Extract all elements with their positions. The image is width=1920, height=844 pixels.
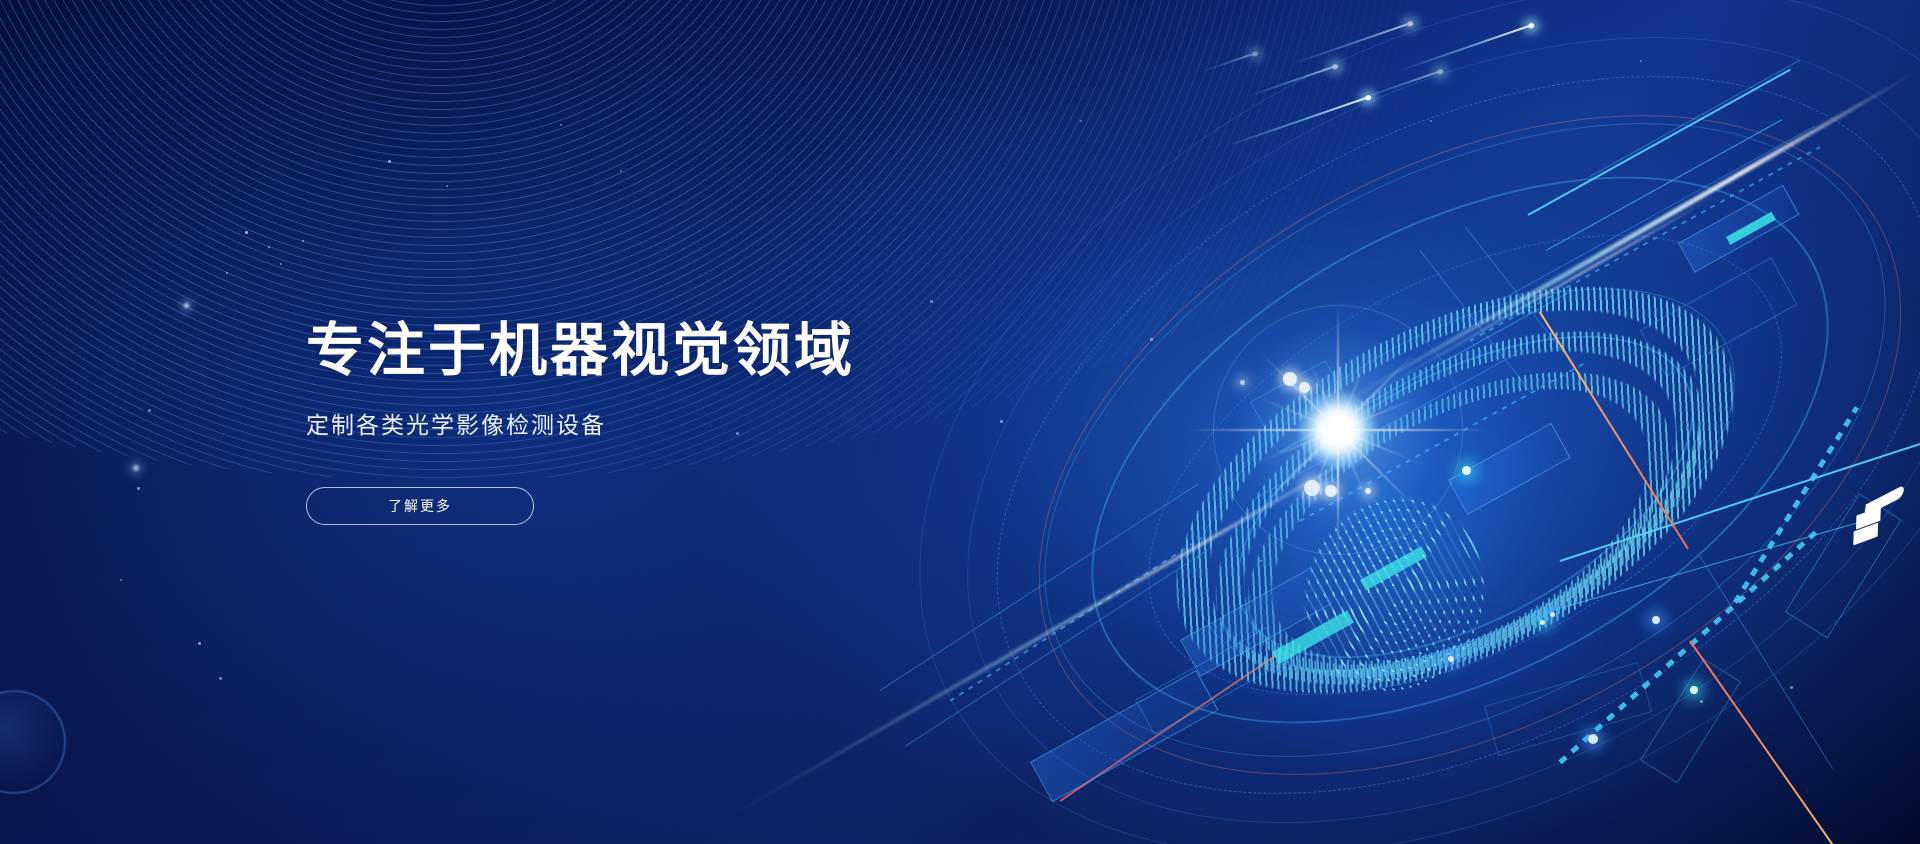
chevron-mark-icon — [1839, 482, 1919, 553]
learn-more-button[interactable]: 了解更多 — [306, 487, 534, 525]
hero-banner: 专注于机器视觉领域 定制各类光学影像检测设备 了解更多 — [0, 0, 1920, 844]
page-title: 专注于机器视觉领域 — [306, 320, 1066, 383]
hatched-arc-band — [1171, 286, 1748, 764]
hero-subtitle: 定制各类光学影像检测设备 — [306, 409, 1066, 441]
dotted-globe-decoration — [1279, 466, 1512, 725]
hero-content: 专注于机器视觉领域 定制各类光学影像检测设备 了解更多 — [306, 320, 1066, 525]
lens-flare-decoration — [0, 690, 66, 794]
light-burst-decoration — [1238, 330, 1438, 530]
hatched-arc-band — [1057, 158, 1853, 822]
hatched-arc-band — [1120, 226, 1800, 790]
